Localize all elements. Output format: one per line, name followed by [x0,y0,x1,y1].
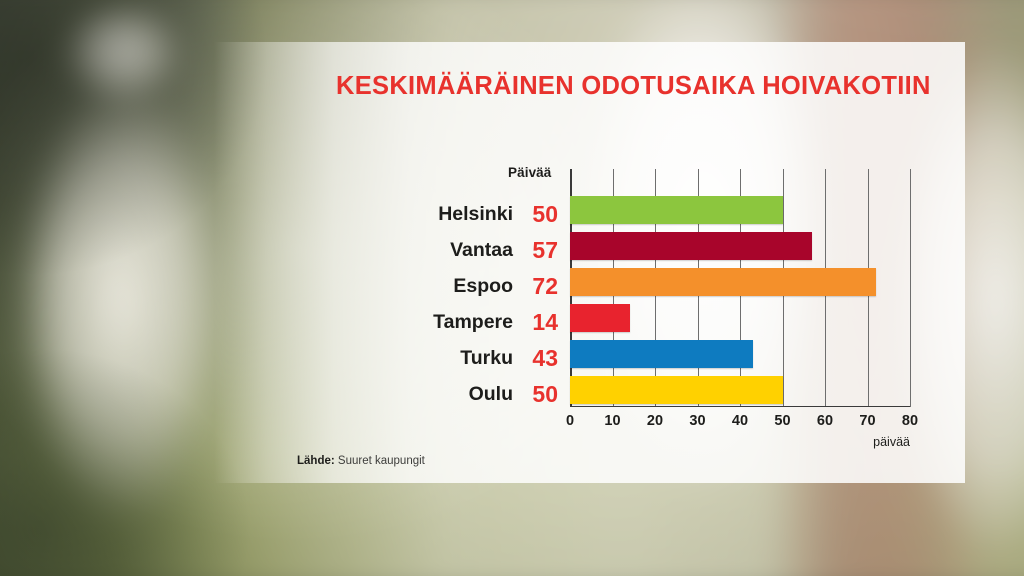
bar-tampere[interactable] [570,304,630,332]
x-tick-40: 40 [732,413,748,429]
source-note: Lähde: Suuret kaupungit [297,455,425,467]
x-tick-60: 60 [817,413,833,429]
x-tick-50: 50 [774,413,790,429]
category-label-column: Helsinki50Vantaa57Espoo72Tampere14Turku4… [390,196,570,412]
bar-row [570,232,910,268]
gridline-80 [910,169,911,407]
category-row: Turku43 [390,340,570,376]
x-axis-baseline [570,406,910,408]
x-tick-30: 30 [689,413,705,429]
category-label-turku: Turku [460,347,513,370]
bar-helsinki[interactable] [570,196,783,224]
x-tick-70: 70 [859,413,875,429]
category-row: Vantaa57 [390,232,570,268]
plot-area [570,169,910,407]
value-label-oulu: 50 [526,381,558,408]
bar-row [570,340,910,376]
category-row: Espoo72 [390,268,570,304]
unit-header-label: Päivää [508,165,551,180]
value-label-espoo: 72 [526,273,558,300]
category-label-oulu: Oulu [469,383,513,406]
category-row: Oulu50 [390,376,570,412]
category-label-helsinki: Helsinki [438,203,513,226]
x-axis-ticks: 01020304050607080 [570,413,910,433]
value-label-helsinki: 50 [526,201,558,228]
category-row: Helsinki50 [390,196,570,232]
category-row: Tampere14 [390,304,570,340]
chart-title: KESKIMÄÄRÄINEN ODOTUSAIKA HOIVAKOTIIN [336,72,936,101]
source-label: Lähde: [297,455,335,467]
category-label-tampere: Tampere [433,311,513,334]
x-tick-0: 0 [566,413,574,429]
bar-chart: Päivää Helsinki50Vantaa57Espoo72Tampere1… [390,160,950,470]
x-axis-unit-label: päivää [873,435,910,449]
value-label-tampere: 14 [526,309,558,336]
bar-turku[interactable] [570,340,753,368]
category-label-vantaa: Vantaa [450,239,513,262]
bar-espoo[interactable] [570,268,876,296]
x-tick-80: 80 [902,413,918,429]
category-label-espoo: Espoo [453,275,513,298]
source-value: Suuret kaupungit [338,455,425,467]
bar-row [570,196,910,232]
bar-oulu[interactable] [570,376,783,404]
x-tick-20: 20 [647,413,663,429]
bar-row [570,304,910,340]
bar-row [570,268,910,304]
value-label-turku: 43 [526,345,558,372]
infographic-slide: KESKIMÄÄRÄINEN ODOTUSAIKA HOIVAKOTIIN Pä… [0,0,1024,576]
bar-vantaa[interactable] [570,232,812,260]
bar-rows [570,196,910,412]
value-label-vantaa: 57 [526,237,558,264]
x-tick-10: 10 [604,413,620,429]
